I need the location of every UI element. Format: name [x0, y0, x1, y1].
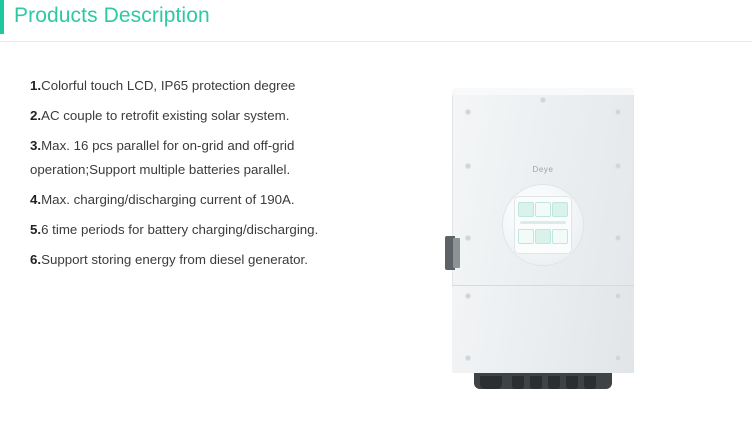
conduit-port — [512, 376, 524, 389]
products-description-list: 1.Colorful touch LCD, IP65 protection de… — [30, 74, 330, 278]
conduit-port — [530, 376, 542, 389]
conduit-port — [480, 376, 502, 389]
screw-icon — [541, 98, 545, 102]
description-item-number: 6. — [30, 252, 41, 267]
description-item-text: Max. 16 pcs parallel for on-grid and off… — [30, 138, 294, 177]
product-image: Deye — [452, 88, 634, 388]
lcd-status-bar — [520, 221, 566, 224]
description-item-number: 4. — [30, 192, 41, 207]
screw-icon — [616, 356, 620, 360]
description-item: 5.6 time periods for battery charging/di… — [30, 218, 330, 242]
brand-label: Deye — [452, 165, 634, 174]
description-item-number: 3. — [30, 138, 41, 153]
description-item: 3.Max. 16 pcs parallel for on-grid and o… — [30, 134, 330, 182]
page-title: Products Description — [14, 1, 210, 31]
settings-icon — [552, 229, 568, 244]
description-item: 1.Colorful touch LCD, IP65 protection de… — [30, 74, 330, 98]
lcd-icon-row-bottom — [518, 229, 568, 244]
conduit-port — [566, 376, 578, 389]
description-item-text: 6 time periods for battery charging/disc… — [41, 222, 318, 237]
lcd-display-bezel — [503, 185, 583, 265]
description-item-text: Colorful touch LCD, IP65 protection degr… — [41, 78, 295, 93]
description-item: 2.AC couple to retrofit existing solar s… — [30, 104, 330, 128]
inverter-lower-panel — [452, 286, 634, 373]
page-root: Products Description 1.Colorful touch LC… — [0, 0, 752, 448]
inverter-top-edge — [452, 88, 634, 95]
description-item: 6.Support storing energy from diesel gen… — [30, 248, 330, 272]
header-accent-bar — [0, 0, 4, 34]
inverter-seam-line — [452, 285, 634, 286]
generator-icon — [535, 229, 551, 244]
screw-icon — [466, 236, 470, 240]
description-item-text: AC couple to retrofit existing solar sys… — [41, 108, 289, 123]
description-item-number: 2. — [30, 108, 41, 123]
lcd-icon-row-top — [518, 202, 568, 217]
battery-icon — [552, 202, 568, 217]
mounting-bracket-inner — [453, 238, 460, 268]
section-header: Products Description — [0, 0, 752, 42]
screw-icon — [466, 110, 470, 114]
conduit-port — [548, 376, 560, 389]
description-item-number: 1. — [30, 78, 41, 93]
lcd-display-screen — [515, 197, 571, 253]
description-item-text: Support storing energy from diesel gener… — [41, 252, 308, 267]
header-divider — [0, 41, 752, 42]
grid-icon — [535, 202, 551, 217]
inverter-body: Deye — [452, 88, 634, 373]
solar-icon — [518, 202, 534, 217]
description-item-text: Max. charging/discharging current of 190… — [41, 192, 295, 207]
screw-icon — [616, 236, 620, 240]
description-item-number: 5. — [30, 222, 41, 237]
screw-icon — [466, 294, 470, 298]
screw-icon — [616, 294, 620, 298]
screw-icon — [616, 110, 620, 114]
screw-icon — [466, 356, 470, 360]
load-icon — [518, 229, 534, 244]
conduit-port — [584, 376, 596, 389]
description-item: 4.Max. charging/discharging current of 1… — [30, 188, 330, 212]
